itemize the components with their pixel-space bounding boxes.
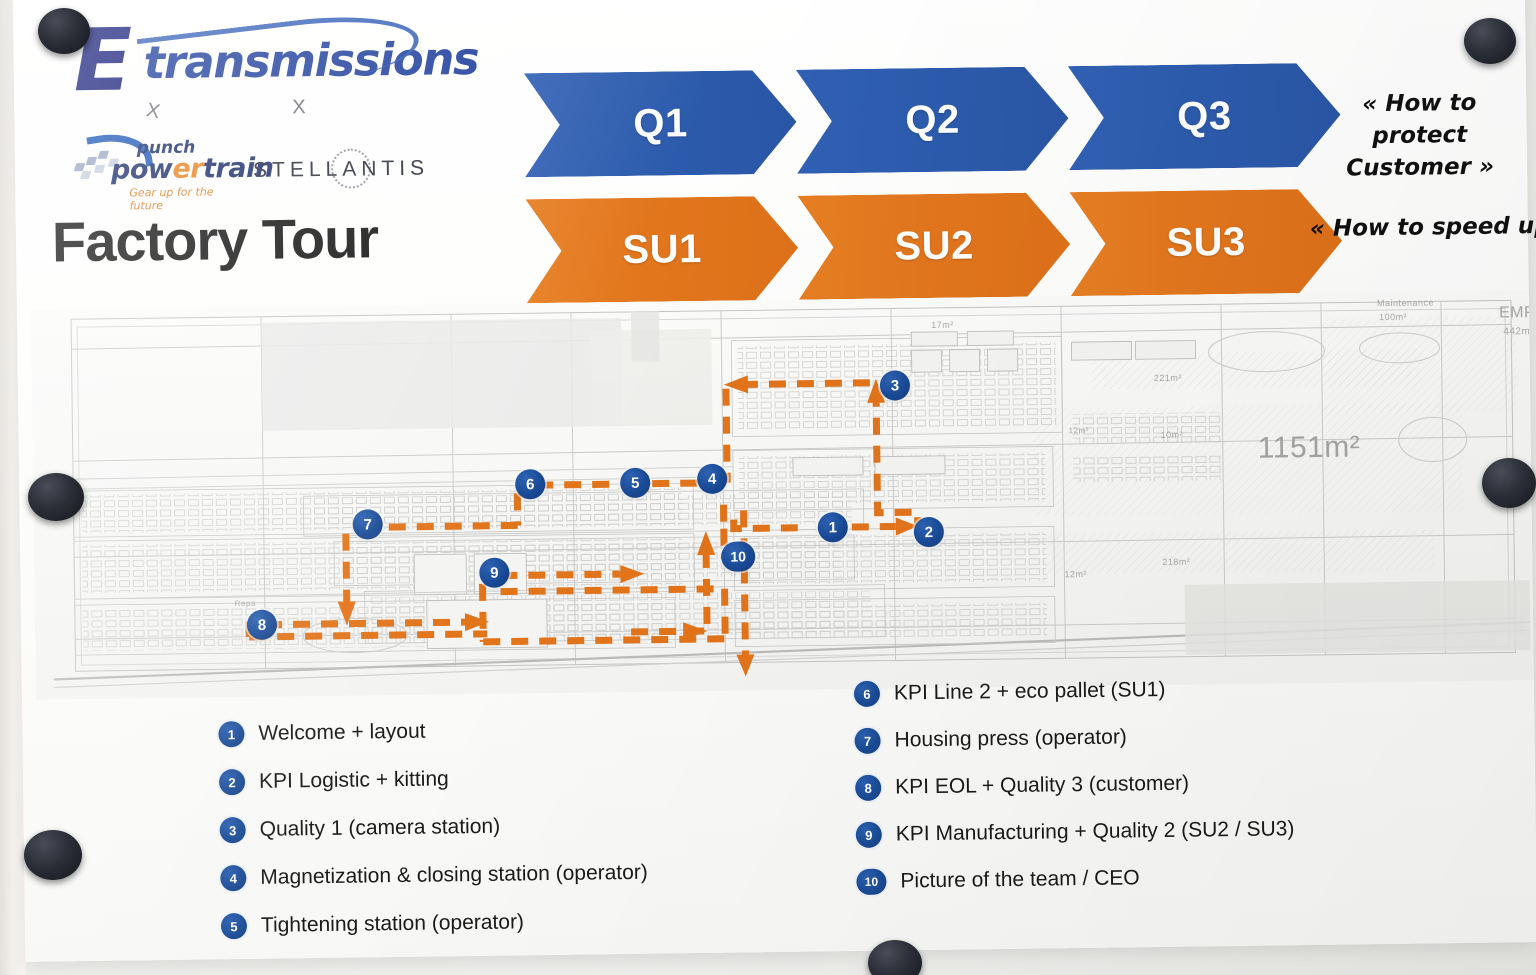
legend-badge-8: 8 xyxy=(855,775,881,801)
speed-chevron-row: SU1 SU2 SU3 xyxy=(525,199,526,303)
swoosh-icon xyxy=(137,6,423,104)
poster-header: E transmissions X X xyxy=(13,0,1529,316)
chevron-q1[interactable]: Q1 xyxy=(524,70,797,178)
legend-item-4[interactable]: 4 Magnetization & closing station (opera… xyxy=(220,860,648,892)
legend-item-1[interactable]: 1 Welcome + layout xyxy=(218,716,646,748)
legend-badge-3: 3 xyxy=(220,817,246,843)
magnet-top-right[interactable] xyxy=(1464,18,1516,64)
factory-tour-poster: E transmissions X X xyxy=(13,0,1536,962)
chevron-q3[interactable]: Q3 xyxy=(1068,63,1341,171)
magnet-mid-left[interactable] xyxy=(28,473,84,521)
legend-item-5[interactable]: 5 Tightening station (operator) xyxy=(221,908,649,940)
partner-logos: punch powertrain Gear up for the future … xyxy=(64,122,445,219)
stellantis-dots-icon xyxy=(331,148,372,189)
legend-item-2[interactable]: 2 KPI Logistic + kitting xyxy=(219,764,647,796)
legend-item-9[interactable]: 9 KPI Manufacturing + Quality 2 (SU2 / S… xyxy=(856,816,1295,848)
legend-badge-9: 9 xyxy=(856,822,882,848)
legend-column-left: 1 Welcome + layout 2 KPI Logistic + kitt… xyxy=(218,716,649,962)
legend-badge-4: 4 xyxy=(220,865,246,891)
whiteboard-background: E transmissions X X xyxy=(0,0,1536,975)
process-banners: Q1 Q2 Q3 SU1 SU2 SU3 xyxy=(524,73,527,325)
legend-label-5: Tightening station (operator) xyxy=(261,910,524,937)
magnet-bottom-left[interactable] xyxy=(24,830,82,880)
legend-item-3[interactable]: 3 Quality 1 (camera station) xyxy=(220,812,648,844)
etransmissions-logo: E transmissions xyxy=(63,10,444,97)
chevron-su2[interactable]: SU2 xyxy=(797,192,1070,300)
quality-tagline: « How to protect Customer » xyxy=(1312,86,1527,185)
legend-label-3: Quality 1 (camera station) xyxy=(260,815,501,842)
stellantis-logo: STELLANTIS xyxy=(253,157,429,183)
legend-label-9: KPI Manufacturing + Quality 2 (SU2 / SU3… xyxy=(896,817,1295,846)
x-separator-icon-1: X xyxy=(144,99,162,124)
punch-powertrain-logo: punch powertrain Gear up for the future xyxy=(75,131,245,133)
legend-badge-1: 1 xyxy=(218,721,244,747)
magnet-mid-right[interactable] xyxy=(1482,458,1536,508)
legend-item-10[interactable]: 10 Picture of the team / CEO xyxy=(856,863,1295,895)
speed-tagline: « How to speed up » xyxy=(1310,210,1536,245)
powertrain-text: powertrain xyxy=(111,153,274,186)
waypoint-badge-9[interactable]: 9 xyxy=(479,558,509,588)
legend-badge-5: 5 xyxy=(221,913,247,939)
x-separator-icon-2: X xyxy=(292,96,306,119)
chevron-su3[interactable]: SU3 xyxy=(1069,189,1342,297)
legend-item-7[interactable]: 7 Housing press (operator) xyxy=(854,722,1293,754)
magnet-top-left[interactable] xyxy=(38,8,90,54)
legend-label-2: KPI Logistic + kitting xyxy=(259,767,449,793)
chevron-q2[interactable]: Q2 xyxy=(796,66,1069,174)
page-title: Factory Tour xyxy=(52,205,379,274)
tour-legend: 1 Welcome + layout 2 KPI Logistic + kitt… xyxy=(22,680,1536,962)
legend-label-1: Welcome + layout xyxy=(258,720,425,746)
chevron-su1[interactable]: SU1 xyxy=(525,196,798,304)
legend-column-right: 6 KPI Line 2 + eco pallet (SU1) 7 Housin… xyxy=(854,675,1296,916)
legend-label-8: KPI EOL + Quality 3 (customer) xyxy=(895,772,1189,800)
legend-item-8[interactable]: 8 KPI EOL + Quality 3 (customer) xyxy=(855,769,1294,801)
legend-badge-10: 10 xyxy=(856,869,886,895)
legend-badge-2: 2 xyxy=(219,769,245,795)
waypoint-badge-10[interactable]: 10 xyxy=(721,541,755,571)
factory-floorplan-map[interactable]: 1151m² EMPTY 442m² Maintenance 100m² 17m… xyxy=(31,290,1534,700)
legend-label-4: Magnetization & closing station (operato… xyxy=(260,861,648,890)
legend-label-7: Housing press (operator) xyxy=(894,725,1127,752)
legend-badge-7: 7 xyxy=(854,728,880,754)
legend-label-10: Picture of the team / CEO xyxy=(900,866,1140,893)
quality-chevron-row: Q1 Q2 Q3 xyxy=(524,73,525,177)
brand-logo-block: E transmissions X X xyxy=(63,10,444,97)
